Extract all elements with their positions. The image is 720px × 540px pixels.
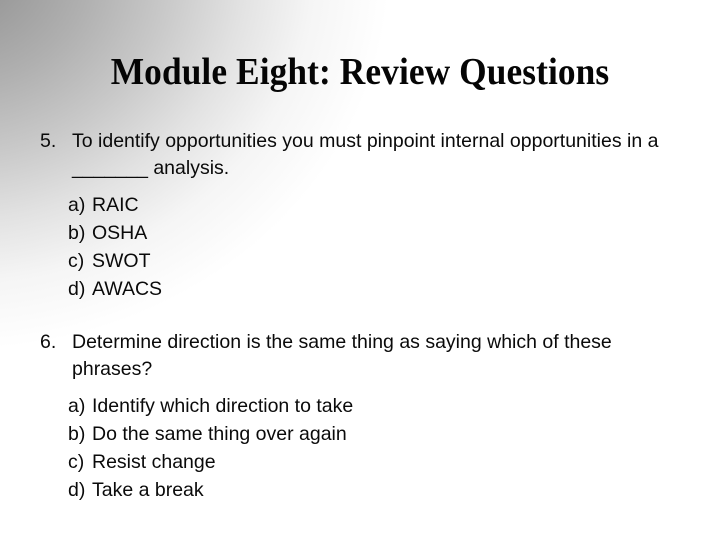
- option-label: AWACS: [92, 275, 162, 303]
- option-item[interactable]: c) SWOT: [68, 247, 690, 275]
- option-list-6: a) Identify which direction to take b) D…: [40, 392, 690, 504]
- option-letter: d): [68, 476, 92, 504]
- option-letter: c): [68, 247, 92, 275]
- question-prompt: Determine direction is the same thing as…: [72, 329, 690, 383]
- question-text-row: 5. To identify opportunities you must pi…: [40, 128, 690, 182]
- option-label: Do the same thing over again: [92, 420, 347, 448]
- slide-canvas: Module Eight: Review Questions 5. To ide…: [0, 0, 720, 540]
- question-number: 5.: [40, 128, 72, 155]
- question-spacer: [40, 303, 690, 329]
- option-item[interactable]: a) Identify which direction to take: [68, 392, 690, 420]
- option-item[interactable]: d) Take a break: [68, 476, 690, 504]
- option-letter: a): [68, 191, 92, 219]
- option-label: OSHA: [92, 219, 147, 247]
- option-letter: b): [68, 420, 92, 448]
- question-text-row: 6. Determine direction is the same thing…: [40, 329, 690, 383]
- page-title: Module Eight: Review Questions: [25, 50, 695, 94]
- option-letter: d): [68, 275, 92, 303]
- slide-body: 5. To identify opportunities you must pi…: [40, 128, 690, 504]
- option-item[interactable]: a) RAIC: [68, 191, 690, 219]
- question-block-5: 5. To identify opportunities you must pi…: [40, 128, 690, 303]
- option-label: SWOT: [92, 247, 151, 275]
- option-letter: c): [68, 448, 92, 476]
- option-item[interactable]: c) Resist change: [68, 448, 690, 476]
- option-letter: b): [68, 219, 92, 247]
- option-label: Take a break: [92, 476, 204, 504]
- option-label: Identify which direction to take: [92, 392, 353, 420]
- option-label: Resist change: [92, 448, 216, 476]
- option-list-5: a) RAIC b) OSHA c) SWOT d) AWACS: [40, 191, 690, 303]
- question-block-6: 6. Determine direction is the same thing…: [40, 329, 690, 504]
- question-prompt: To identify opportunities you must pinpo…: [72, 128, 690, 182]
- option-item[interactable]: b) Do the same thing over again: [68, 420, 690, 448]
- option-letter: a): [68, 392, 92, 420]
- option-label: RAIC: [92, 191, 139, 219]
- option-item[interactable]: d) AWACS: [68, 275, 690, 303]
- option-item[interactable]: b) OSHA: [68, 219, 690, 247]
- question-number: 6.: [40, 329, 72, 356]
